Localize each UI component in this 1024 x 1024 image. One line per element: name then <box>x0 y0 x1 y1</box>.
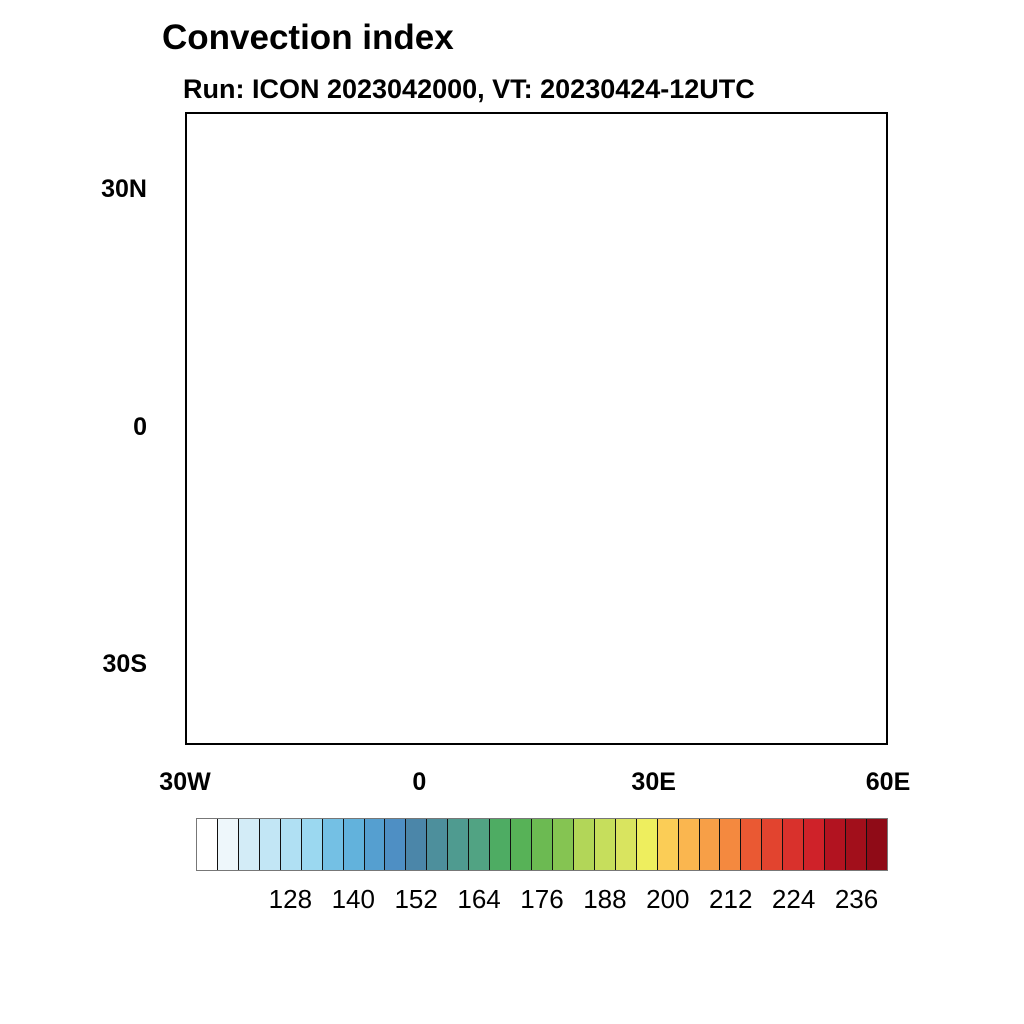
colorbar-cell <box>825 819 846 870</box>
map-plot-area <box>185 112 888 745</box>
colorbar-cell <box>532 819 553 870</box>
x-axis-tick-label: 0 <box>412 768 426 797</box>
colorbar-cell <box>218 819 239 870</box>
colorbar-cell <box>490 819 511 870</box>
colorbar-cell <box>302 819 323 870</box>
y-axis-tick-label: 30S <box>0 650 147 679</box>
colorbar-cell <box>658 819 679 870</box>
x-axis-tick-label: 30E <box>631 768 675 797</box>
colorbar-cell <box>762 819 783 870</box>
colorbar-cell <box>406 819 427 870</box>
map-canvas <box>187 114 886 743</box>
colorbar-cell <box>741 819 762 870</box>
colorbar-cell <box>574 819 595 870</box>
colorbar-cell <box>720 819 741 870</box>
x-axis-tick-label: 30W <box>159 768 210 797</box>
colorbar-cell <box>365 819 386 870</box>
colorbar-cell <box>448 819 469 870</box>
colorbar-cell <box>846 819 867 870</box>
colorbar-tick-label: 224 <box>772 884 815 915</box>
convection-index-figure: Convection index Run: ICON 2023042000, V… <box>0 0 1024 1024</box>
colorbar-tick-label: 188 <box>583 884 626 915</box>
colorbar-cell <box>595 819 616 870</box>
page-title: Convection index <box>162 18 454 58</box>
colorbar-cell <box>260 819 281 870</box>
colorbar-tick-label: 176 <box>520 884 563 915</box>
colorbar-cell <box>281 819 302 870</box>
colorbar-cell <box>637 819 658 870</box>
colorbar-cell <box>679 819 700 870</box>
colorbar-cell <box>553 819 574 870</box>
colorbar-cell <box>344 819 365 870</box>
colorbar-cell <box>700 819 721 870</box>
colorbar-tick-label: 200 <box>646 884 689 915</box>
colorbar-tick-label: 140 <box>332 884 375 915</box>
colorbar-cell <box>197 819 218 870</box>
colorbar-cells <box>196 818 888 871</box>
x-axis-tick-label: 60E <box>866 768 910 797</box>
colorbar-cell <box>385 819 406 870</box>
page-subtitle: Run: ICON 2023042000, VT: 20230424-12UTC <box>183 74 755 105</box>
colorbar-tick-label: 164 <box>457 884 500 915</box>
colorbar-tick-label: 212 <box>709 884 752 915</box>
colorbar-cell <box>616 819 637 870</box>
colorbar-cell <box>469 819 490 870</box>
colorbar-cell <box>427 819 448 870</box>
y-axis-tick-label: 0 <box>0 413 147 442</box>
colorbar-cell <box>867 819 887 870</box>
colorbar-cell <box>511 819 532 870</box>
colorbar-cell <box>239 819 260 870</box>
y-axis-tick-label: 30N <box>0 175 147 204</box>
colorbar-tick-label: 236 <box>835 884 878 915</box>
colorbar-cell <box>323 819 344 870</box>
colorbar-tick-label: 128 <box>269 884 312 915</box>
colorbar <box>196 818 888 871</box>
colorbar-cell <box>783 819 804 870</box>
colorbar-cell <box>804 819 825 870</box>
colorbar-tick-label: 152 <box>394 884 437 915</box>
